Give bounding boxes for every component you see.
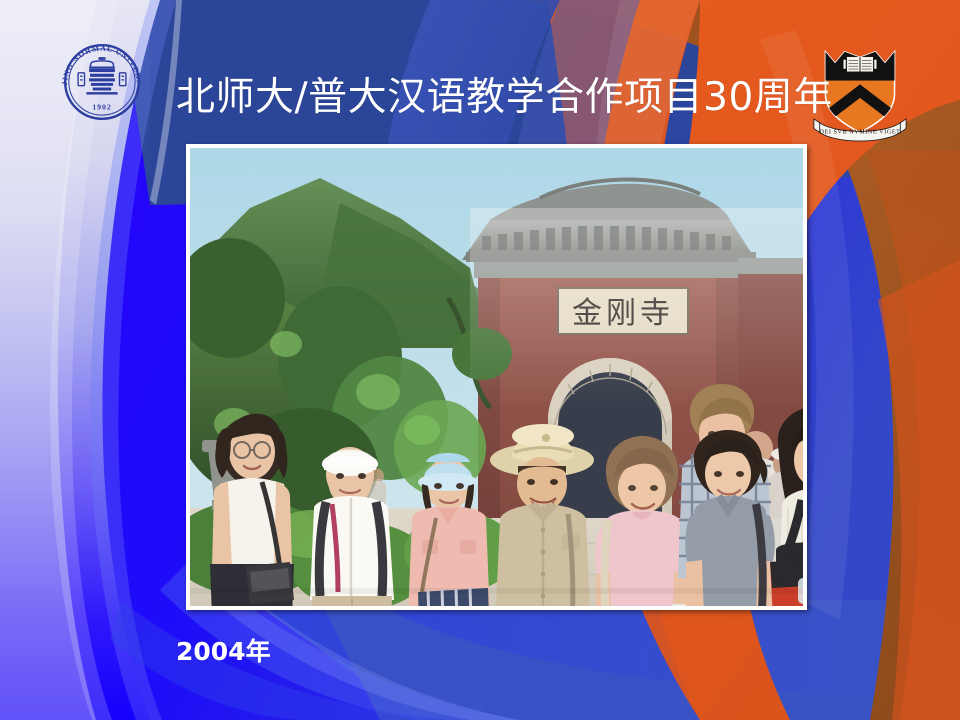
bnu-logo: BEIJING NORMAL UNIVERSITY 1902: [56, 36, 148, 128]
group-photo-illustration: 金刚寺: [190, 148, 803, 606]
princeton-motto: DEI SVB NVMINE VIGET: [820, 129, 901, 135]
slide-title: 北师大/普大汉语教学合作项目30周年: [176, 72, 796, 124]
slide-caption: 2004年: [176, 636, 271, 668]
photo-frame: 金刚寺: [186, 144, 807, 610]
bnu-seal-year: 1902: [92, 103, 111, 112]
group-photo: 金刚寺: [190, 148, 803, 606]
slide-canvas: BEIJING NORMAL UNIVERSITY 1902: [0, 0, 960, 720]
bnu-seal-icon: BEIJING NORMAL UNIVERSITY 1902: [56, 36, 148, 128]
